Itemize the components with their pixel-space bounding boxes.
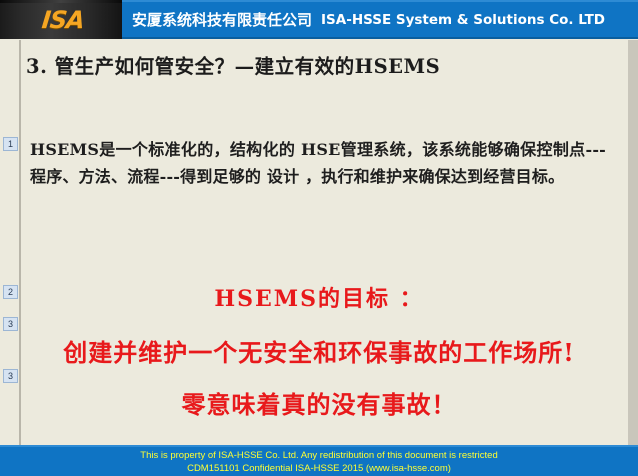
animation-order-marker[interactable]: 3 [3,369,18,383]
goal-statement-1: 创建并维护一个无安全和环保事故的工作场所! [0,333,638,368]
company-name-en: ISA-HSSE System & Solutions Co. LTD [321,12,605,28]
goal-statement-2: 零意味着真的没有事故！ [0,385,638,420]
animation-order-marker[interactable]: 1 [3,137,18,151]
company-name-cn: 安厦系统科技有限责任公司 [132,9,312,30]
isa-logo: ISA [0,0,122,39]
header-title-bar: 安厦系统科技有限责任公司 ISA-HSSE System & Solutions… [122,0,638,39]
slide-canvas: ISA 安厦系统科技有限责任公司 ISA-HSSE System & Solut… [0,0,638,476]
animation-order-marker[interactable]: 3 [3,317,18,331]
isa-logo-text: ISA [37,8,85,32]
body-paragraph: HSEMS是一个标准化的，结构化的 HSE管理系统，该系统能够确保控制点---程… [30,136,606,190]
animation-order-marker[interactable]: 2 [3,285,18,299]
goal-heading: HSEMS的目标 ： [0,281,638,313]
footer-copyright-line: This is property of ISA-HSSE Co. Ltd. An… [140,449,497,462]
slide-footer: This is property of ISA-HSSE Co. Ltd. An… [0,445,638,476]
footer-document-line: CDM151101 Confidential ISA-HSSE 2015 (ww… [187,462,451,475]
slide-header: ISA 安厦系统科技有限责任公司 ISA-HSSE System & Solut… [0,0,638,39]
page-title: 3. 管生产如何管安全？—建立有效的HSEMS [26,50,606,79]
